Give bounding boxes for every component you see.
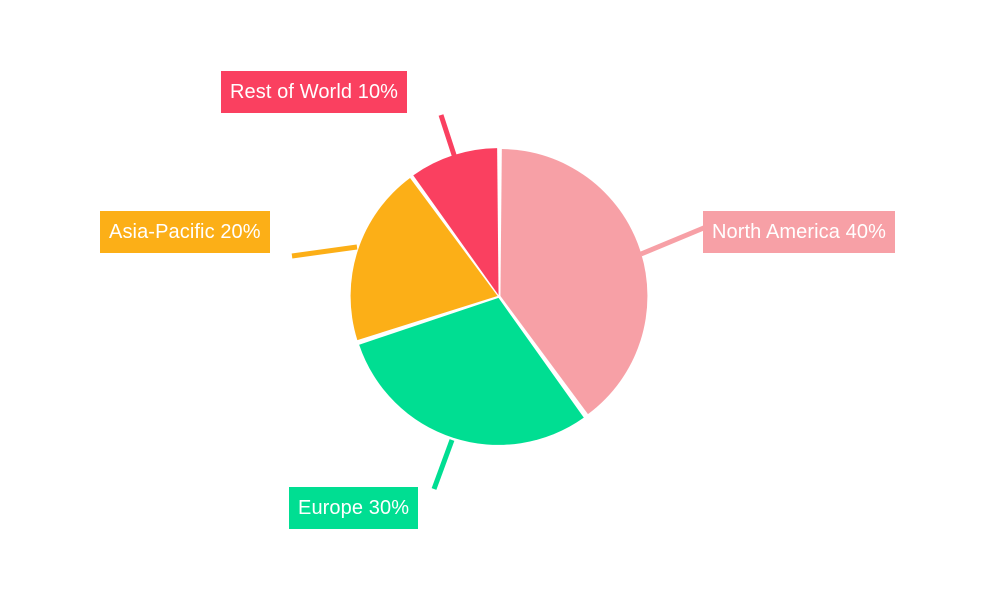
pie-label-asia-pacific: Asia-Pacific 20% <box>100 211 270 253</box>
pie-label-asia-pacific-text: Asia-Pacific 20% <box>109 222 261 242</box>
leader-line-asia-pacific <box>292 247 357 256</box>
pie-label-rest-of-world: Rest of World 10% <box>221 71 407 113</box>
pie-chart-canvas <box>0 0 1000 600</box>
pie-label-north-america-text: North America 40% <box>712 222 886 242</box>
pie-slices <box>351 148 648 445</box>
pie-label-europe: Europe 30% <box>289 487 418 529</box>
leader-line-rest-of-world <box>441 115 456 161</box>
pie-chart: North America 40% Europe 30% Asia-Pacifi… <box>0 0 1000 600</box>
pie-label-rest-of-world-text: Rest of World 10% <box>230 82 398 102</box>
pie-label-north-america: North America 40% <box>703 211 895 253</box>
pie-label-europe-text: Europe 30% <box>298 498 409 518</box>
leader-line-europe <box>434 440 452 489</box>
leader-line-north-america <box>641 227 706 254</box>
